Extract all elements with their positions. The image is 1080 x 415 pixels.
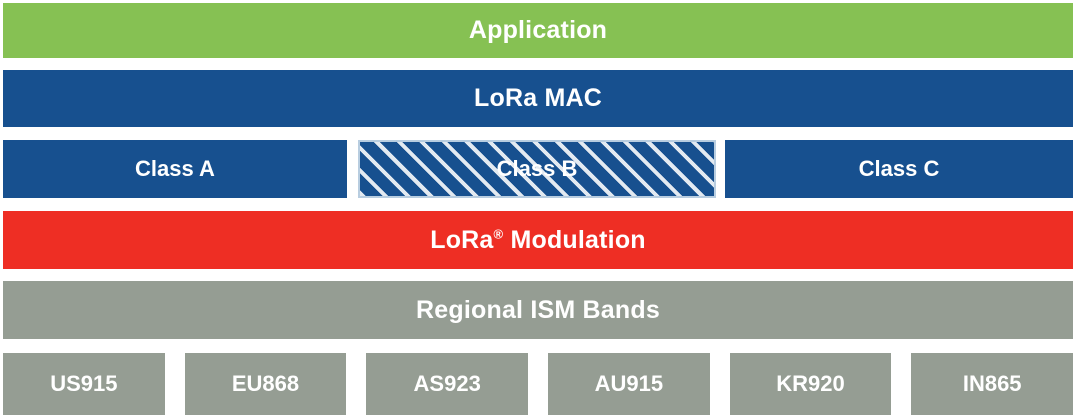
class-box-class-c: Class C [725, 140, 1073, 198]
frequency-band-row: US915 EU868 AS923 AU915 KR920 IN865 [3, 353, 1073, 415]
registered-trademark-icon: ® [494, 226, 504, 241]
class-box-class-b: Class B [358, 140, 716, 198]
band-box-in865: IN865 [911, 353, 1073, 415]
layer-application: Application [3, 3, 1073, 58]
band-box-au915: AU915 [548, 353, 710, 415]
band-label-us915: US915 [50, 371, 117, 397]
layer-regional-ism-bands: Regional ISM Bands [3, 281, 1073, 339]
class-c-label: Class C [859, 156, 940, 182]
band-box-kr920: KR920 [730, 353, 892, 415]
layer-regional-ism-bands-label: Regional ISM Bands [416, 296, 660, 325]
class-box-class-a: Class A [3, 140, 347, 198]
modulation-label-after: Modulation [503, 226, 645, 254]
band-box-as923: AS923 [366, 353, 528, 415]
band-label-au915: AU915 [595, 371, 663, 397]
device-class-row: Class A Class B Class C [3, 140, 1073, 198]
band-label-eu868: EU868 [232, 371, 299, 397]
modulation-label-before: LoRa [430, 226, 493, 254]
class-a-label: Class A [135, 156, 215, 182]
band-label-as923: AS923 [414, 371, 481, 397]
band-label-kr920: KR920 [776, 371, 844, 397]
layer-application-label: Application [469, 16, 607, 45]
layer-lora-modulation: LoRa® Modulation [3, 211, 1073, 269]
band-label-in865: IN865 [963, 371, 1022, 397]
layer-lora-mac: LoRa MAC [3, 70, 1073, 127]
band-box-eu868: EU868 [185, 353, 347, 415]
layer-lora-modulation-label: LoRa® Modulation [430, 226, 646, 255]
band-box-us915: US915 [3, 353, 165, 415]
lorawan-protocol-stack-diagram: Application LoRa MAC Class A Class B Cla… [0, 0, 1080, 415]
class-b-label: Class B [497, 156, 578, 182]
layer-lora-mac-label: LoRa MAC [474, 84, 602, 113]
